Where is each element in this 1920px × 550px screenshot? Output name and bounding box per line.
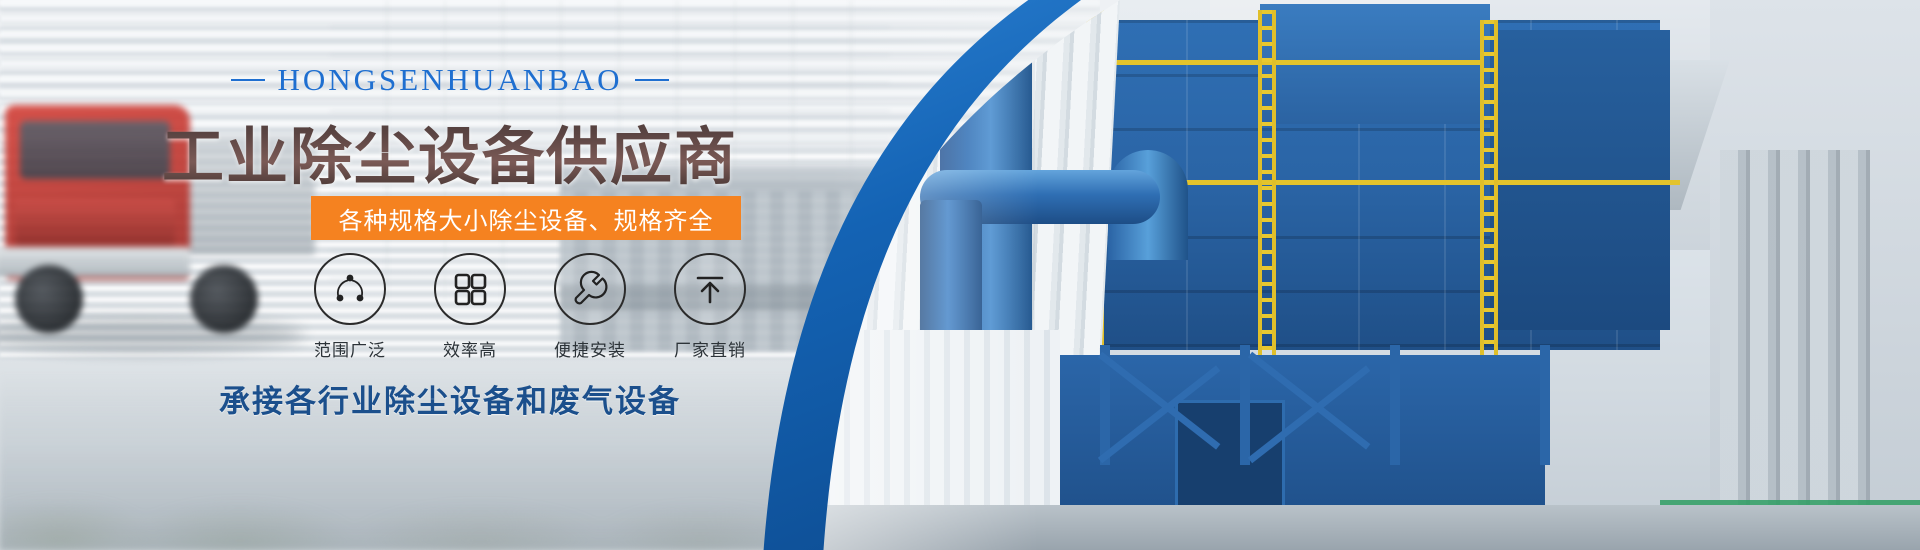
feature-label: 范围广泛 bbox=[300, 336, 400, 361]
share-nodes-icon bbox=[314, 253, 386, 325]
feature-item-efficiency[interactable]: 效率高 bbox=[420, 253, 520, 361]
grid-squares-icon bbox=[434, 253, 506, 325]
eyebrow-dash-left bbox=[231, 79, 265, 81]
feature-item-range[interactable]: 范围广泛 bbox=[300, 253, 400, 361]
feature-label: 便捷安装 bbox=[540, 336, 640, 361]
tagline-text: 承接各行业除尘设备和废气设备 bbox=[0, 376, 900, 421]
promo-banner: HONGSENHUANBAO 工业除尘设备供应商 各种规格大小除尘设备、规格齐全… bbox=[0, 0, 1920, 550]
feature-list: 范围广泛 效率高 bbox=[300, 253, 760, 361]
subtitle-banner: 各种规格大小除尘设备、规格齐全 bbox=[311, 196, 741, 240]
subtitle-banner-label: 各种规格大小除尘设备、规格齐全 bbox=[339, 201, 714, 236]
feature-label: 效率高 bbox=[420, 336, 520, 361]
arrow-up-bar-icon bbox=[674, 253, 746, 325]
feature-item-installation[interactable]: 便捷安装 bbox=[540, 253, 640, 361]
wrench-icon bbox=[554, 253, 626, 325]
eyebrow-dash-right bbox=[635, 79, 669, 81]
feature-label: 厂家直销 bbox=[660, 336, 760, 361]
feature-item-factory-direct[interactable]: 厂家直销 bbox=[660, 253, 760, 361]
eyebrow-text: HONGSENHUANBAO bbox=[0, 62, 900, 98]
eyebrow-label: HONGSENHUANBAO bbox=[277, 62, 622, 97]
page-title: 工业除尘设备供应商 bbox=[0, 106, 900, 196]
banner-content: HONGSENHUANBAO 工业除尘设备供应商 各种规格大小除尘设备、规格齐全… bbox=[0, 0, 900, 550]
